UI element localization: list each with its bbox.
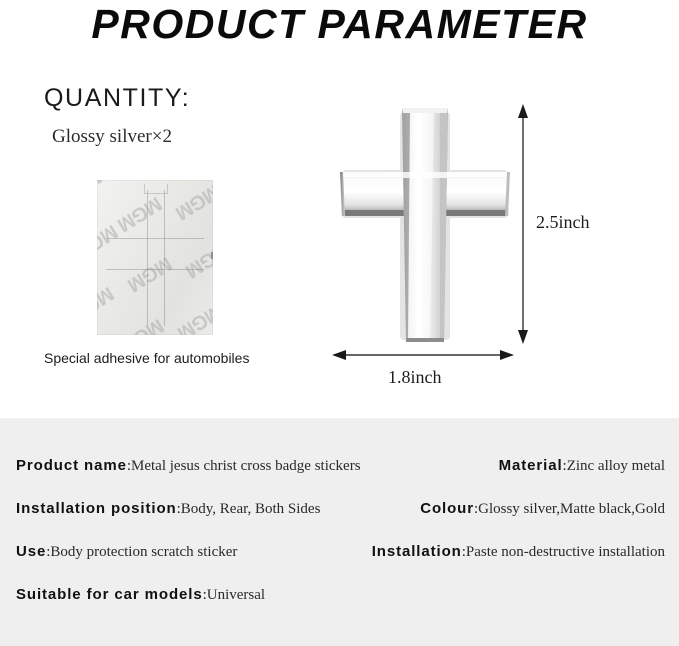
spec-row: Installation:Paste non-destructive insta… [372, 544, 665, 560]
spec-panel [0, 418, 679, 646]
spec-value: Body, Rear, Both Sides [181, 501, 321, 517]
spec-value: Universal [207, 587, 265, 603]
spec-row: Suitable for car models:Universal [16, 587, 265, 603]
height-dimension-arrow [512, 104, 534, 344]
adhesive-brand-text: MGM [171, 180, 213, 224]
spec-value: Zinc alloy metal [567, 458, 665, 474]
spec-value: Glossy silver,Matte black,Gold [478, 501, 665, 517]
spec-row: Colour:Glossy silver,Matte black,Gold [420, 501, 665, 517]
spec-row: Use:Body protection scratch sticker [16, 544, 237, 560]
spec-label: Colour [420, 500, 474, 517]
spec-label: Installation position [16, 500, 177, 517]
spec-row: Material:Zinc alloy metal [499, 458, 665, 474]
adhesive-brand-text: MGM [97, 281, 117, 326]
adhesive-brand-text: MGM [97, 180, 113, 204]
cross-badge-graphic [330, 100, 520, 350]
adhesive-pad-image: MGM MGM MGM MGM MGM MGM MGM MGM MGM [97, 180, 213, 335]
cross-vertical-bar [402, 108, 448, 342]
adhesive-caption: Special adhesive for automobiles [44, 350, 249, 366]
width-dimension-arrow [332, 344, 514, 366]
adhesive-pad-edge-mark [211, 252, 213, 259]
spec-label: Use [16, 543, 46, 560]
adhesive-pad-surface: MGM MGM MGM MGM MGM MGM MGM MGM MGM [97, 180, 213, 335]
spec-value: Paste non-destructive installation [466, 544, 665, 560]
quantity-label: QUANTITY: [44, 84, 190, 113]
spec-label: Suitable for car models [16, 586, 203, 603]
adhesive-brand-text: MGM [173, 299, 213, 335]
spec-label: Product name [16, 457, 127, 474]
quantity-value: Glossy silver×2 [52, 126, 172, 148]
cross-badge-image [330, 100, 520, 350]
height-dimension-label: 2.5inch [536, 212, 590, 233]
spec-row: Installation position:Body, Rear, Both S… [16, 501, 320, 517]
spec-label: Material [499, 457, 563, 474]
spec-label: Installation [372, 543, 462, 560]
spec-row: Product name:Metal jesus christ cross ba… [16, 458, 361, 474]
spec-value: Body protection scratch sticker [50, 544, 237, 560]
page-title: PRODUCT PARAMETER [0, 0, 679, 48]
width-dimension-label: 1.8inch [388, 367, 442, 388]
cross-junction-highlight [402, 172, 448, 178]
spec-value: Metal jesus christ cross badge stickers [131, 458, 361, 474]
adhesive-diecut-horizontal [106, 238, 204, 270]
